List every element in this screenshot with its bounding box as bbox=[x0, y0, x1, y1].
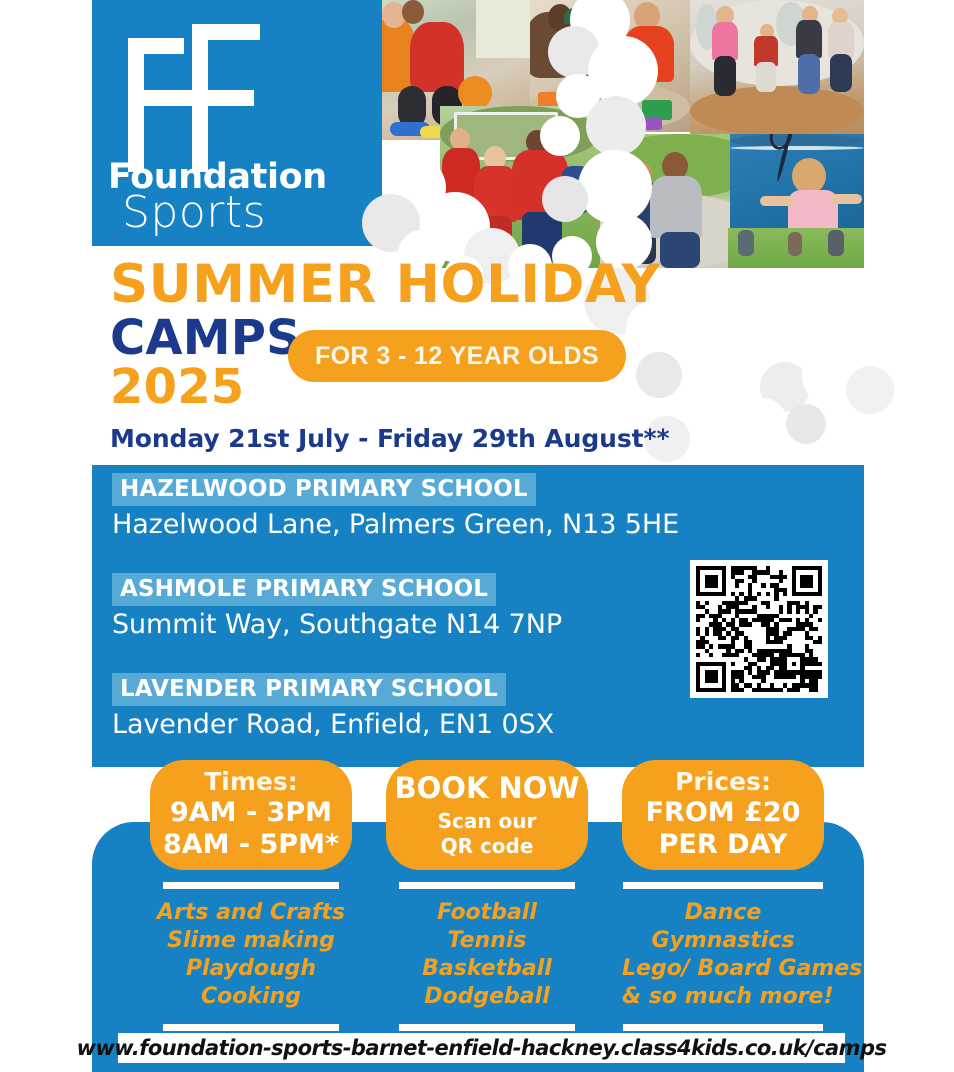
times-pill-heading: Times: bbox=[204, 768, 298, 797]
activities-column: Dance Gymnastics Lego/ Board Games & so … bbox=[622, 882, 824, 1031]
activity-item: Arts and Crafts bbox=[150, 899, 352, 927]
activity-item: Cooking bbox=[150, 983, 352, 1011]
photo-football-kids bbox=[440, 106, 600, 268]
headline-line-1: SUMMER HOLIDAY bbox=[110, 258, 730, 312]
activity-item: & so much more! bbox=[622, 983, 824, 1011]
location-item: HAZELWOOD PRIMARY SCHOOL Hazelwood Lane,… bbox=[112, 473, 679, 540]
summer-camp-poster: Foundation Sports bbox=[0, 0, 954, 1072]
photo-lawn-running bbox=[728, 228, 864, 268]
book-now-sub-1: Scan our bbox=[438, 809, 537, 834]
location-item: LAVENDER PRIMARY SCHOOL Lavender Road, E… bbox=[112, 673, 554, 740]
column-rule-top bbox=[623, 882, 823, 889]
activity-item: Football bbox=[386, 899, 588, 927]
prices-pill-line-2: FROM £20 bbox=[646, 797, 801, 829]
column-rule-top bbox=[163, 882, 339, 889]
activities-column: Football Tennis Basketball Dodgeball bbox=[386, 882, 588, 1031]
activities-column: Arts and Crafts Slime making Playdough C… bbox=[150, 882, 352, 1031]
activity-item: Gymnastics bbox=[622, 927, 824, 955]
foundation-sports-logo-icon bbox=[112, 12, 272, 172]
activity-item: Lego/ Board Games bbox=[622, 955, 824, 983]
times-pill: Times: 9AM - 3PM 8AM - 5PM* bbox=[150, 760, 352, 870]
website-url: www.foundation-sports-barnet-enfield-hac… bbox=[77, 1036, 887, 1060]
location-name: HAZELWOOD PRIMARY SCHOOL bbox=[112, 473, 536, 506]
age-range-badge-label: FOR 3 - 12 YEAR OLDS bbox=[315, 342, 599, 371]
age-range-badge: FOR 3 - 12 YEAR OLDS bbox=[288, 330, 626, 382]
activity-item: Tennis bbox=[386, 927, 588, 955]
activities-list: Dance Gymnastics Lego/ Board Games & so … bbox=[622, 899, 824, 1012]
qr-code[interactable] bbox=[690, 560, 828, 698]
column-rule-bottom bbox=[623, 1024, 823, 1031]
book-now-pill[interactable]: BOOK NOW Scan our QR code bbox=[386, 760, 588, 870]
prices-pill-heading: Prices: bbox=[675, 768, 771, 797]
location-address: Lavender Road, Enfield, EN1 0SX bbox=[112, 709, 554, 740]
headline-block: SUMMER HOLIDAY CAMPS 2025 FOR 3 - 12 YEA… bbox=[110, 258, 730, 412]
brand-logo-panel: Foundation Sports bbox=[92, 0, 382, 246]
column-rule-top bbox=[399, 882, 575, 889]
activity-item: Basketball bbox=[386, 955, 588, 983]
book-now-sub-2: QR code bbox=[441, 834, 534, 859]
location-name: ASHMOLE PRIMARY SCHOOL bbox=[112, 573, 496, 606]
location-address: Hazelwood Lane, Palmers Green, N13 5HE bbox=[112, 509, 679, 540]
photo-tennis-girl bbox=[730, 134, 864, 236]
qr-code-matrix bbox=[696, 566, 822, 692]
camp-dates: Monday 21st July - Friday 29th August** bbox=[110, 424, 669, 453]
activity-item: Slime making bbox=[150, 927, 352, 955]
location-address: Summit Way, Southgate N14 7NP bbox=[112, 609, 562, 640]
activities-list: Arts and Crafts Slime making Playdough C… bbox=[150, 899, 352, 1012]
times-pill-line-3: 8AM - 5PM* bbox=[163, 829, 339, 861]
times-pill-line-2: 9AM - 3PM bbox=[170, 797, 332, 829]
column-rule-bottom bbox=[163, 1024, 339, 1031]
column-rule-bottom bbox=[399, 1024, 575, 1031]
activity-item: Dance bbox=[622, 899, 824, 927]
photo-dance-school bbox=[690, 0, 864, 136]
book-now-heading: BOOK NOW bbox=[395, 771, 580, 806]
website-url-bar[interactable]: www.foundation-sports-barnet-enfield-hac… bbox=[118, 1033, 845, 1063]
location-item: ASHMOLE PRIMARY SCHOOL Summit Way, South… bbox=[112, 573, 562, 640]
logo-wordmark-sports: Sports bbox=[122, 191, 370, 235]
activity-item: Dodgeball bbox=[386, 983, 588, 1011]
photo-collage bbox=[380, 0, 864, 268]
activities-list: Football Tennis Basketball Dodgeball bbox=[386, 899, 588, 1012]
activity-item: Playdough bbox=[150, 955, 352, 983]
location-name: LAVENDER PRIMARY SCHOOL bbox=[112, 673, 506, 706]
prices-pill: Prices: FROM £20 PER DAY bbox=[622, 760, 824, 870]
prices-pill-line-3: PER DAY bbox=[659, 829, 788, 861]
